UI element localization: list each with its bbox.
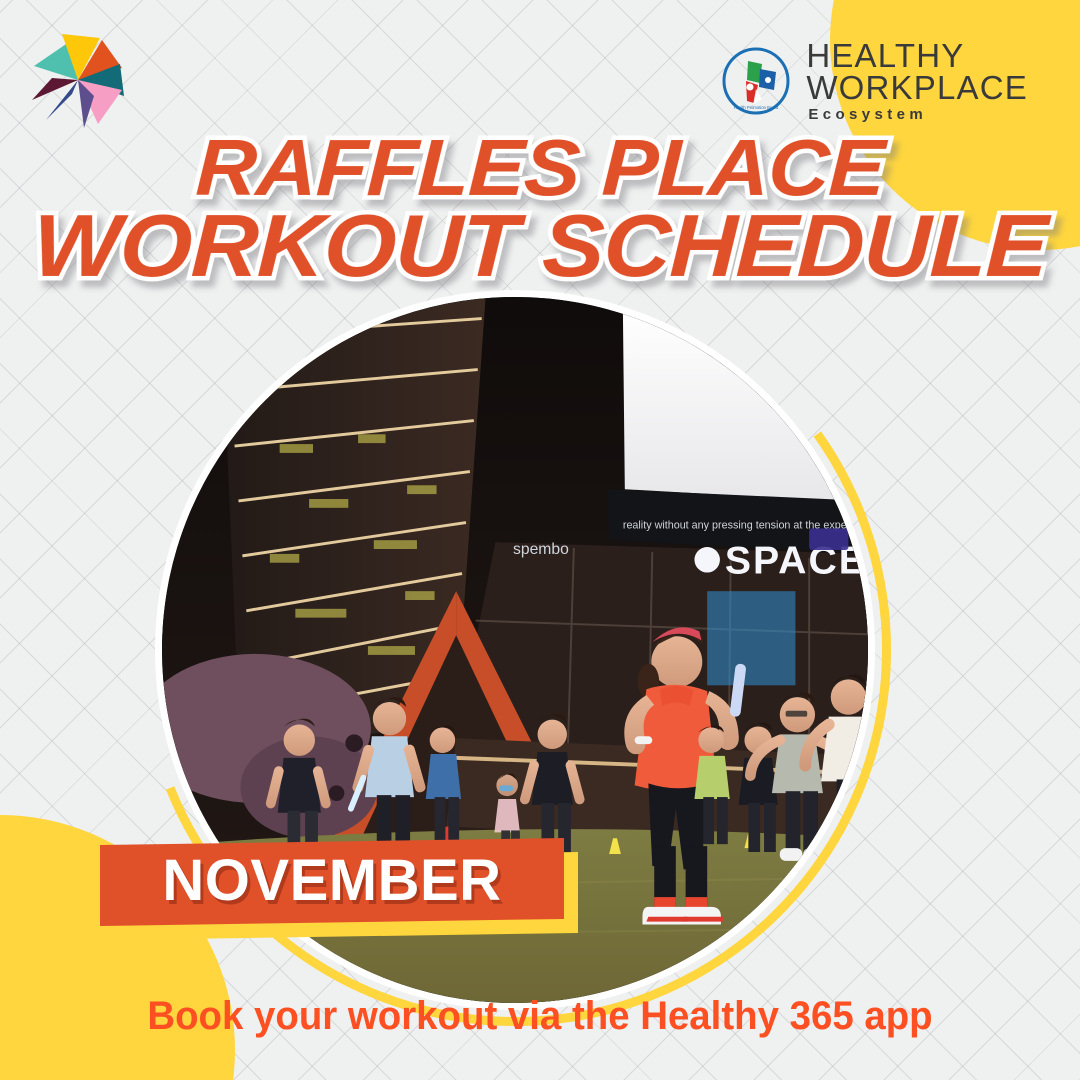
partner-logo-line3: Ecosystem [808, 108, 1028, 123]
month-banner-face: NOVEMBER [100, 838, 564, 926]
health-promotion-board-badge-icon: Health Promotion Board [720, 45, 792, 117]
pinwheel-logo [22, 22, 134, 134]
page-title-line2: WORKOUT SCHEDULE [0, 206, 1080, 285]
cta-text: Book your workout via the Healthy 365 ap… [147, 994, 932, 1039]
healthy-workplace-ecosystem-logo: Health Promotion Board HEALTHY WORKPLACE… [720, 40, 1028, 122]
page-title-line1: RAFFLES PLACE [0, 132, 1080, 204]
page-title: RAFFLES PLACE WORKOUT SCHEDULE [0, 132, 1080, 285]
cta-text-block: Book your workout via the Healthy 365 ap… [0, 994, 1080, 1039]
poster-canvas: Health Promotion Board HEALTHY WORKPLACE… [0, 0, 1080, 1080]
svg-text:Health Promotion Board: Health Promotion Board [734, 105, 779, 110]
partner-logo-line2: WORKPLACE [806, 72, 1028, 104]
partner-logo-line1: HEALTHY [806, 40, 1028, 72]
month-banner: NOVEMBER [100, 838, 564, 926]
month-label: NOVEMBER [162, 847, 501, 914]
